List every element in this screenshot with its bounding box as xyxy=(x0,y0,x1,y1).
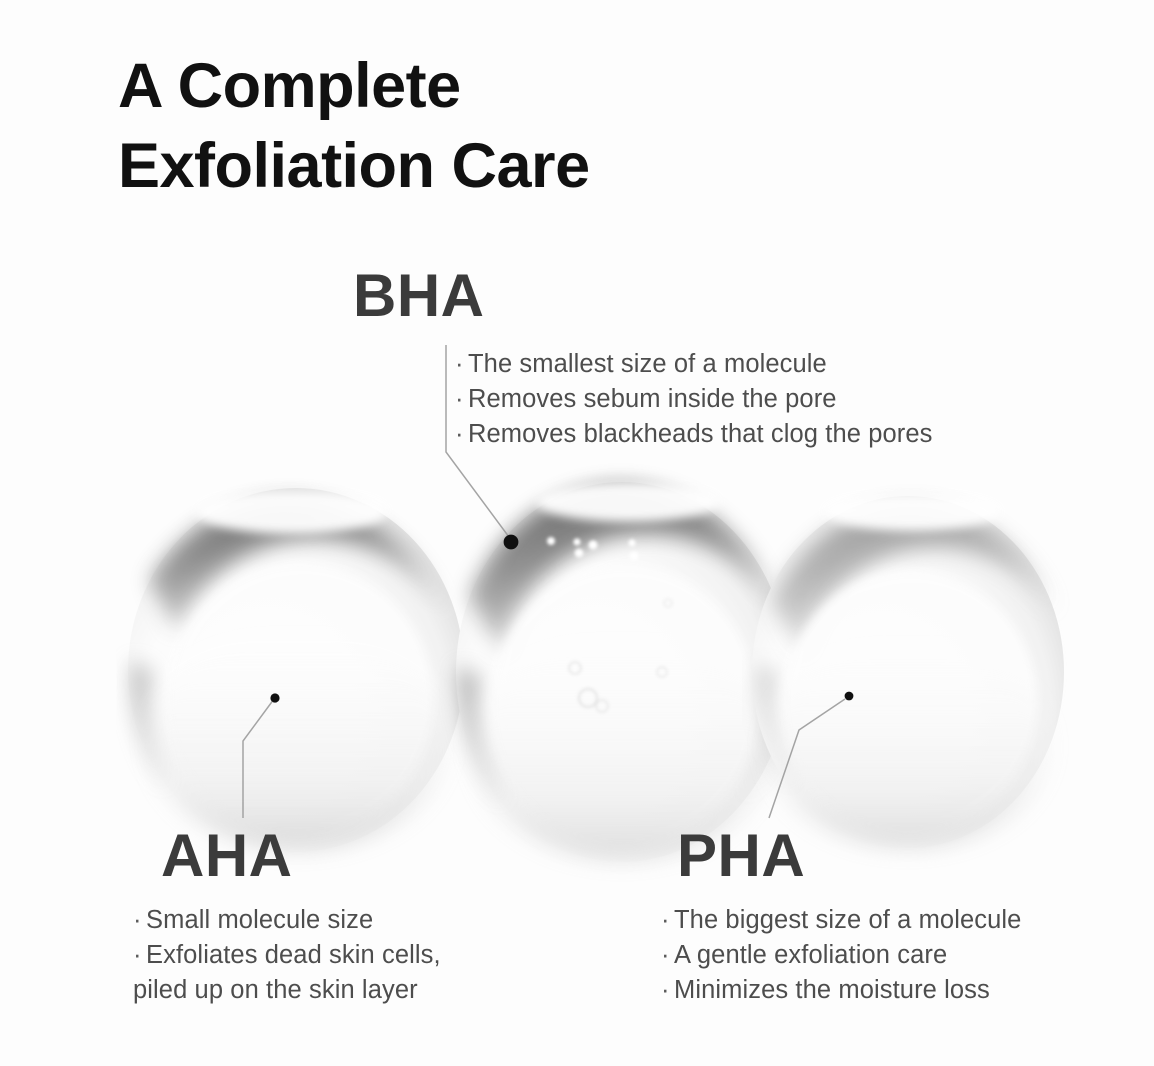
bullet-dot-icon: · xyxy=(661,903,674,938)
bullet-dot-icon: · xyxy=(661,938,674,973)
aha-bullet-item: ·Small molecule size xyxy=(133,903,441,938)
aha-bullet-item: ·Exfoliates dead skin cells, xyxy=(133,938,441,973)
pha-bullet-item: ·A gentle exfoliation care xyxy=(661,938,1021,973)
aha-droplet xyxy=(128,488,464,852)
infographic-root: A Complete Exfoliation Care xyxy=(0,0,1154,1066)
bha-bullet-list: ·The smallest size of a molecule ·Remove… xyxy=(455,347,932,452)
bha-inner-bubbles xyxy=(569,599,672,712)
bha-heading: BHA xyxy=(353,266,485,326)
bha-bullet-item: ·The smallest size of a molecule xyxy=(455,347,932,382)
bha-bullet-text: Removes blackheads that clog the pores xyxy=(468,420,932,448)
aha-bullet-continuation: piled up on the skin layer xyxy=(133,973,441,1008)
aha-bullet-text: Small molecule size xyxy=(146,906,373,934)
aha-molecule-dot xyxy=(270,693,279,702)
pha-bullet-list: ·The biggest size of a molecule ·A gentl… xyxy=(661,903,1021,1008)
bha-molecule-dot xyxy=(504,535,519,550)
pha-molecule-dot xyxy=(845,692,854,701)
bha-bullet-text: Removes sebum inside the pore xyxy=(468,385,837,413)
bullet-dot-icon: · xyxy=(455,382,468,417)
pha-droplet xyxy=(752,493,1064,848)
bha-bullet-item: ·Removes sebum inside the pore xyxy=(455,382,932,417)
pha-bullet-text: A gentle exfoliation care xyxy=(674,941,947,969)
bullet-dot-icon: · xyxy=(661,973,674,1008)
aha-heading: AHA xyxy=(161,826,293,886)
pha-bullet-text: Minimizes the moisture loss xyxy=(674,976,990,1004)
bullet-dot-icon: · xyxy=(133,903,146,938)
pha-bullet-item: ·Minimizes the moisture loss xyxy=(661,973,1021,1008)
bha-bubbles xyxy=(547,537,638,560)
bullet-dot-icon: · xyxy=(455,347,468,382)
page-title: A Complete Exfoliation Care xyxy=(118,46,818,206)
pha-bullet-text: The biggest size of a molecule xyxy=(674,906,1021,934)
bullet-dot-icon: · xyxy=(133,938,146,973)
aha-bullet-list: ·Small molecule size ·Exfoliates dead sk… xyxy=(133,903,441,1008)
pha-bullet-item: ·The biggest size of a molecule xyxy=(661,903,1021,938)
pha-heading: PHA xyxy=(677,826,805,886)
bha-bullet-item: ·Removes blackheads that clog the pores xyxy=(455,417,932,452)
aha-bullet-text: Exfoliates dead skin cells, xyxy=(146,941,441,969)
bha-bullet-text: The smallest size of a molecule xyxy=(468,350,827,378)
bullet-dot-icon: · xyxy=(455,417,468,452)
